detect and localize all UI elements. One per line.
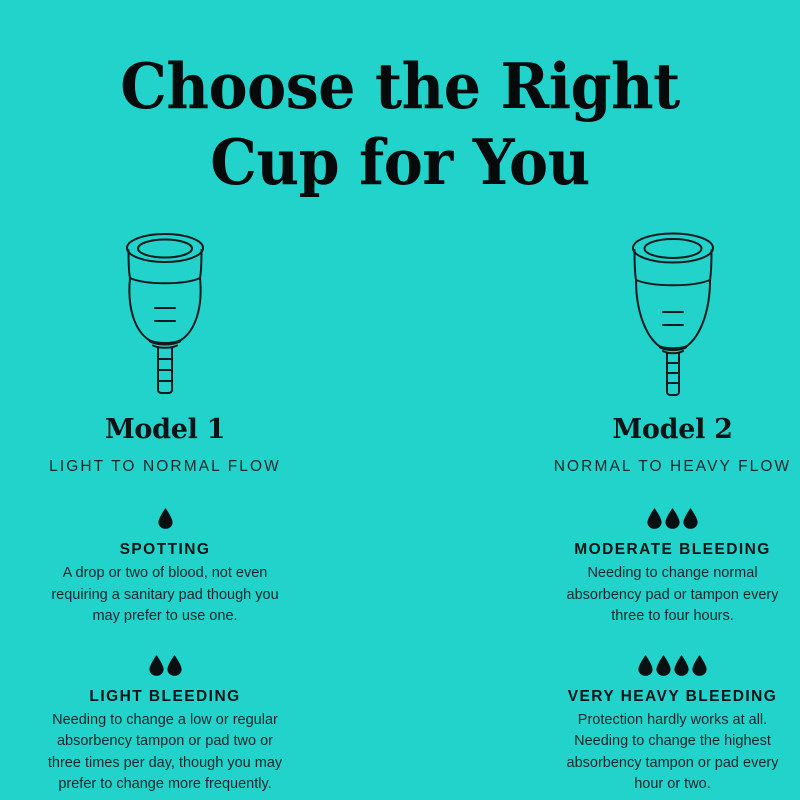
blood-drop-icon <box>167 655 182 676</box>
blood-drop-icon <box>692 655 707 676</box>
blood-drop-icon <box>674 655 689 676</box>
blood-drop-icon <box>647 508 662 529</box>
drop-group-2 <box>149 652 182 676</box>
bleed-body-very-heavy: Protection hardly works at all. Needing … <box>548 710 798 796</box>
drop-group-4 <box>638 652 707 676</box>
bleed-title-moderate: MODERATE BLEEDING <box>574 540 771 559</box>
infographic-poster: Choose the Right Cup for You <box>0 0 800 800</box>
model-name-1: Model 1 <box>105 414 225 446</box>
bleed-body-light: Needing to change a low or regular absor… <box>40 710 290 796</box>
menstrual-cup-tapered-icon <box>613 228 733 400</box>
blood-drop-icon <box>683 508 698 529</box>
bleed-section-very-heavy: VERY HEAVY BLEEDING Protection hardly wo… <box>523 652 800 796</box>
bleed-body-spotting: A drop or two of blood, not even requiri… <box>40 563 290 628</box>
model-name-2: Model 2 <box>612 414 732 446</box>
drop-group-3 <box>647 505 698 529</box>
blood-drop-icon <box>656 655 671 676</box>
flow-label-2: NORMAL TO HEAVY FLOW <box>554 457 792 477</box>
flow-label-1: LIGHT TO NORMAL FLOW <box>49 457 281 477</box>
page-title-line-1: Choose the Right <box>28 48 772 124</box>
blood-drop-icon <box>149 655 164 676</box>
page-title: Choose the Right Cup for You <box>0 48 800 200</box>
page-title-line-2: Cup for You <box>28 124 772 200</box>
model-column-1: Model 1 LIGHT TO NORMAL FLOW SPOTTING A … <box>0 228 400 796</box>
blood-drop-icon <box>665 508 680 529</box>
bleed-section-spotting: SPOTTING A drop or two of blood, not eve… <box>15 505 315 628</box>
model-columns: Model 1 LIGHT TO NORMAL FLOW SPOTTING A … <box>0 228 800 796</box>
model-column-2: Model 2 NORMAL TO HEAVY FLOW MODERATE BL… <box>400 228 800 796</box>
bleed-section-light: LIGHT BLEEDING Needing to change a low o… <box>15 652 315 796</box>
drop-group-1 <box>158 505 173 529</box>
bleed-title-spotting: SPOTTING <box>120 540 211 559</box>
blood-drop-icon <box>158 508 173 529</box>
bleed-body-moderate: Needing to change normal absorbency pad … <box>548 563 798 628</box>
blood-drop-icon <box>638 655 653 676</box>
bleed-title-very-heavy: VERY HEAVY BLEEDING <box>568 687 778 706</box>
bleed-section-moderate: MODERATE BLEEDING Needing to change norm… <box>523 505 800 628</box>
menstrual-cup-rounded-icon <box>105 228 225 400</box>
bleed-title-light: LIGHT BLEEDING <box>89 687 240 706</box>
